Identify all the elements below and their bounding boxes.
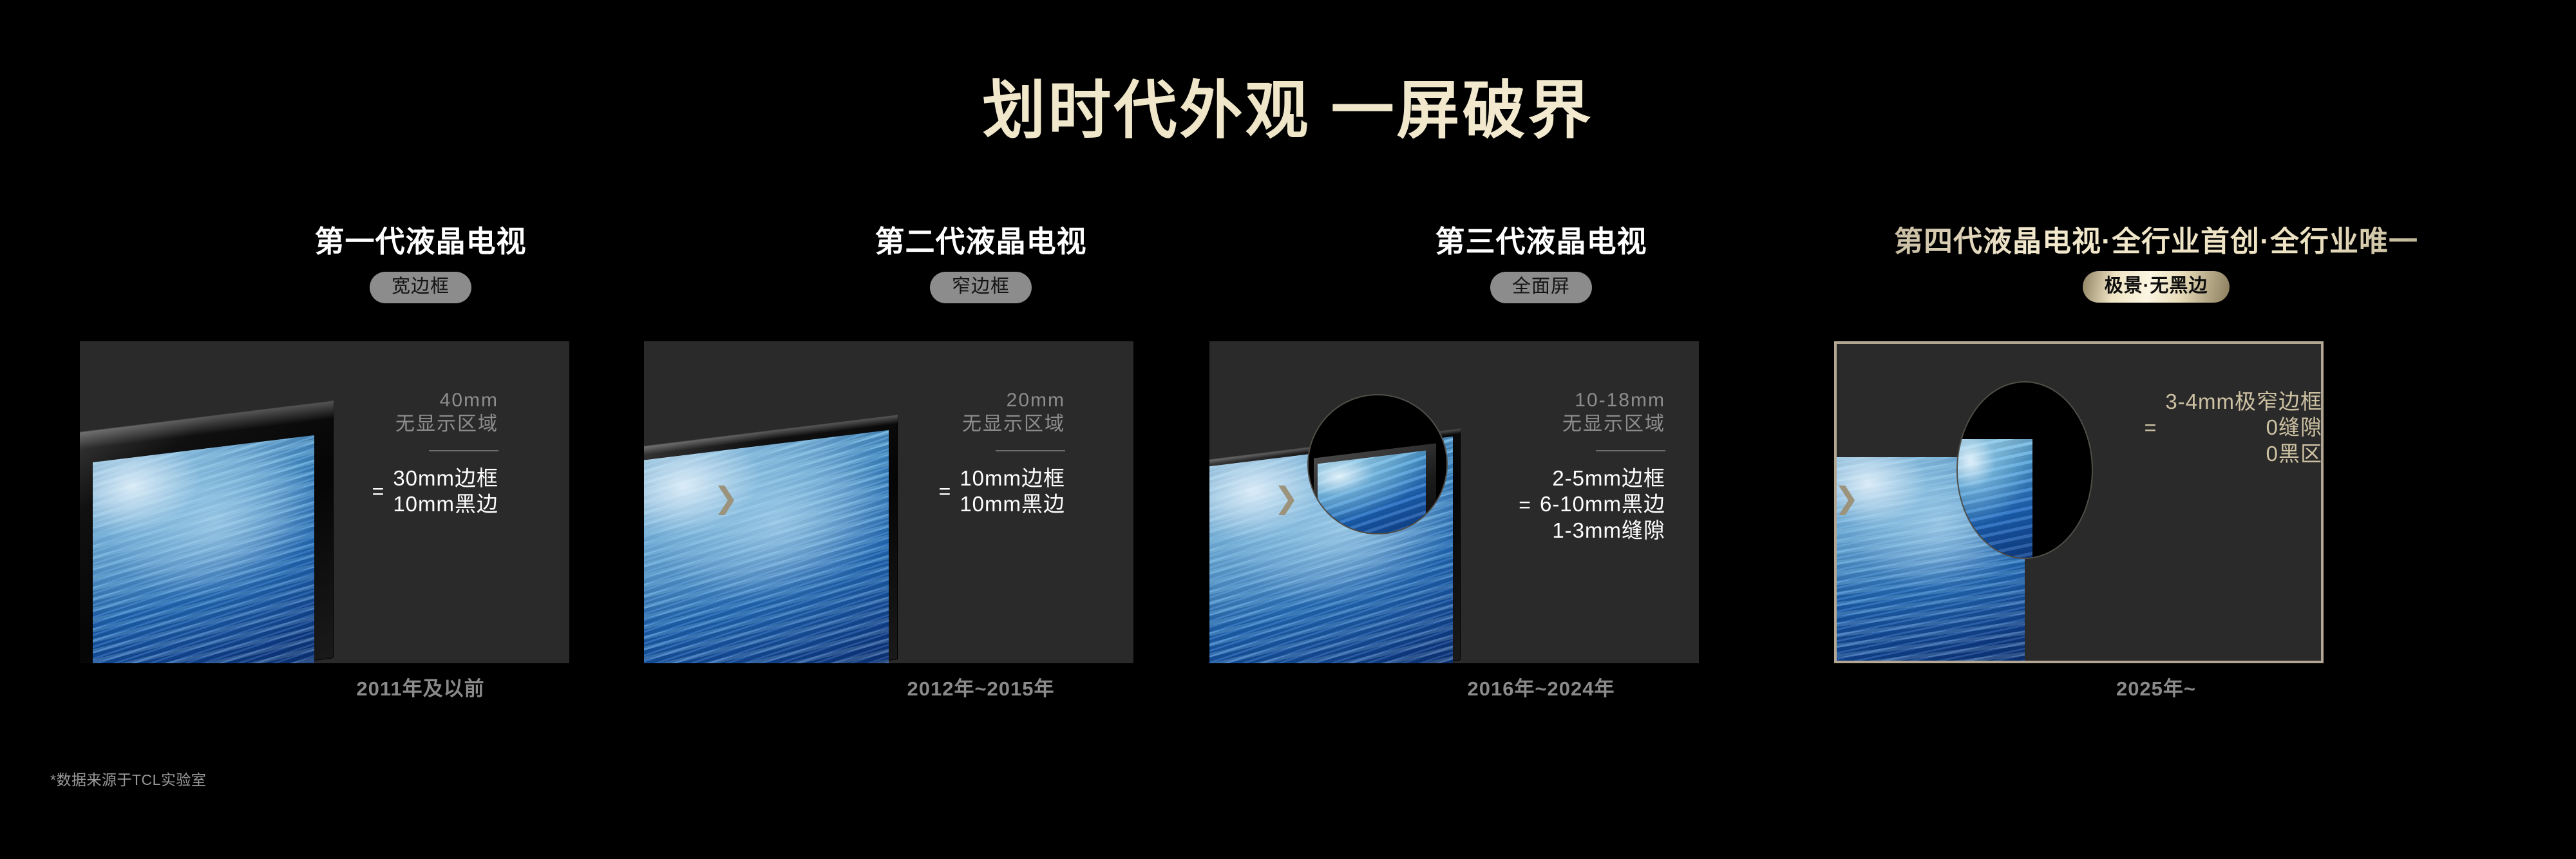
column-header-3: 第三代液晶电视 全面屏 <box>1280 227 1802 303</box>
slide-canvas: 划时代外观 一屏破界 第一代液晶电视 宽边框 40mm 无显示区 <box>0 0 2576 859</box>
badge-wrap: 窄边框 <box>720 272 1242 303</box>
breakdown-block: = 10mm边框 10mm黑边 <box>913 466 1065 518</box>
breakdown-lines: 10mm边框 10mm黑边 <box>960 466 1065 518</box>
equals-symbol: = <box>2145 417 2157 438</box>
year-caption: 2025年~ <box>1841 672 2472 701</box>
magnified-screen <box>1318 451 1426 534</box>
breakdown-line: 30mm边框 <box>393 466 498 491</box>
no-display-size: 40mm <box>346 389 498 413</box>
no-display-label: 无显示区域 <box>913 413 1065 437</box>
breakdown-line: 0黑区 <box>2165 441 2322 467</box>
status-badge: 窄边框 <box>930 272 1032 303</box>
breakdown-line: 6-10mm黑边 <box>1540 491 1665 517</box>
magnifier-ellipse <box>1956 381 2093 559</box>
annotation-divider <box>996 450 1065 451</box>
breakdown-line: 10mm黑边 <box>393 491 498 517</box>
measurement-annotation-2: 20mm 无显示区域 = 10mm边框 10mm黑边 <box>913 389 1065 518</box>
generation-columns: 第一代液晶电视 宽边框 40mm 无显示区域 = <box>0 0 2576 859</box>
generation-column-4: 第四代液晶电视·全行业首创·全行业唯一 极景·无黑边 = 3-4mm极窄边框 <box>1841 0 2472 859</box>
generation-title: 第四代液晶电视·全行业首创·全行业唯一 <box>1841 227 2472 256</box>
no-display-label: 无显示区域 <box>346 413 498 437</box>
status-badge: 极景·无黑边 <box>2083 271 2230 303</box>
no-display-label: 无显示区域 <box>1485 413 1665 437</box>
annotation-divider <box>429 450 498 451</box>
magnifier-circle <box>1307 394 1448 534</box>
breakdown-line: 1-3mm缝隙 <box>1540 518 1665 543</box>
generation-column-3: 第三代液晶电视 全面屏 10-18mm 无显 <box>1280 0 1802 859</box>
breakdown-line: 3-4mm极窄边框 <box>2165 389 2322 415</box>
tv-corner-render <box>644 415 898 663</box>
no-display-size: 20mm <box>913 389 1065 413</box>
annotation-divider <box>1596 450 1665 451</box>
badge-wrap: 全面屏 <box>1280 272 1802 303</box>
generation-title: 第二代液晶电视 <box>720 227 1242 256</box>
breakdown-line: 0缝隙 <box>2165 415 2322 440</box>
breakdown-block: = 2-5mm边框 6-10mm黑边 1-3mm缝隙 <box>1485 466 1665 543</box>
data-source-footnote: *数据来源于TCL实验室 <box>50 768 206 789</box>
tv-screen-image <box>644 430 889 663</box>
breakdown-line: 10mm黑边 <box>960 491 1065 517</box>
status-badge: 全面屏 <box>1490 272 1592 303</box>
column-header-1: 第一代液晶电视 宽边框 <box>160 227 681 303</box>
year-caption: 2012年~2015年 <box>720 672 1242 701</box>
breakdown-lines: 30mm边框 10mm黑边 <box>393 466 498 518</box>
measurement-annotation-3: 10-18mm 无显示区域 = 2-5mm边框 6-10mm黑边 1-3mm缝隙 <box>1485 389 1665 543</box>
generation-title: 第三代液晶电视 <box>1280 227 1802 256</box>
status-badge: 宽边框 <box>370 272 471 303</box>
breakdown-line: 10mm边框 <box>960 466 1065 491</box>
column-header-2: 第二代液晶电视 窄边框 <box>720 227 1242 303</box>
breakdown-lines: 2-5mm边框 6-10mm黑边 1-3mm缝隙 <box>1540 466 1665 543</box>
breakdown-block: = 30mm边框 10mm黑边 <box>346 466 498 518</box>
magnified-screen <box>1956 439 2032 559</box>
breakdown-lines: 3-4mm极窄边框 0缝隙 0黑区 <box>2165 389 2322 467</box>
breakdown-block: = 3-4mm极窄边框 0缝隙 0黑区 <box>2110 389 2322 467</box>
measurement-annotation-4: = 3-4mm极窄边框 0缝隙 0黑区 <box>2110 389 2322 467</box>
equals-symbol: = <box>372 481 384 502</box>
chevron-right-icon: ❯ <box>714 483 739 513</box>
equals-symbol: = <box>939 481 951 502</box>
year-caption: 2016年~2024年 <box>1280 672 1802 701</box>
measurement-annotation-1: 40mm 无显示区域 = 30mm边框 10mm黑边 <box>346 389 498 518</box>
year-caption: 2011年及以前 <box>160 672 681 701</box>
chevron-right-icon: ❯ <box>1274 483 1299 513</box>
generation-column-1: 第一代液晶电视 宽边框 40mm 无显示区域 = <box>160 0 681 859</box>
tv-corner-render <box>80 401 334 663</box>
equals-symbol: = <box>1519 495 1531 515</box>
generation-column-2: 第二代液晶电视 窄边框 20mm 无显示区域 = <box>720 0 1242 859</box>
column-header-4: 第四代液晶电视·全行业首创·全行业唯一 极景·无黑边 <box>1841 227 2472 303</box>
breakdown-line: 2-5mm边框 <box>1540 466 1665 491</box>
tv-screen-image <box>93 435 314 663</box>
no-display-size: 10-18mm <box>1485 389 1665 413</box>
badge-wrap: 极景·无黑边 <box>1841 271 2472 303</box>
generation-title: 第一代液晶电视 <box>160 227 681 256</box>
badge-wrap: 宽边框 <box>160 272 681 303</box>
chevron-right-icon: ❯ <box>1834 483 1859 513</box>
